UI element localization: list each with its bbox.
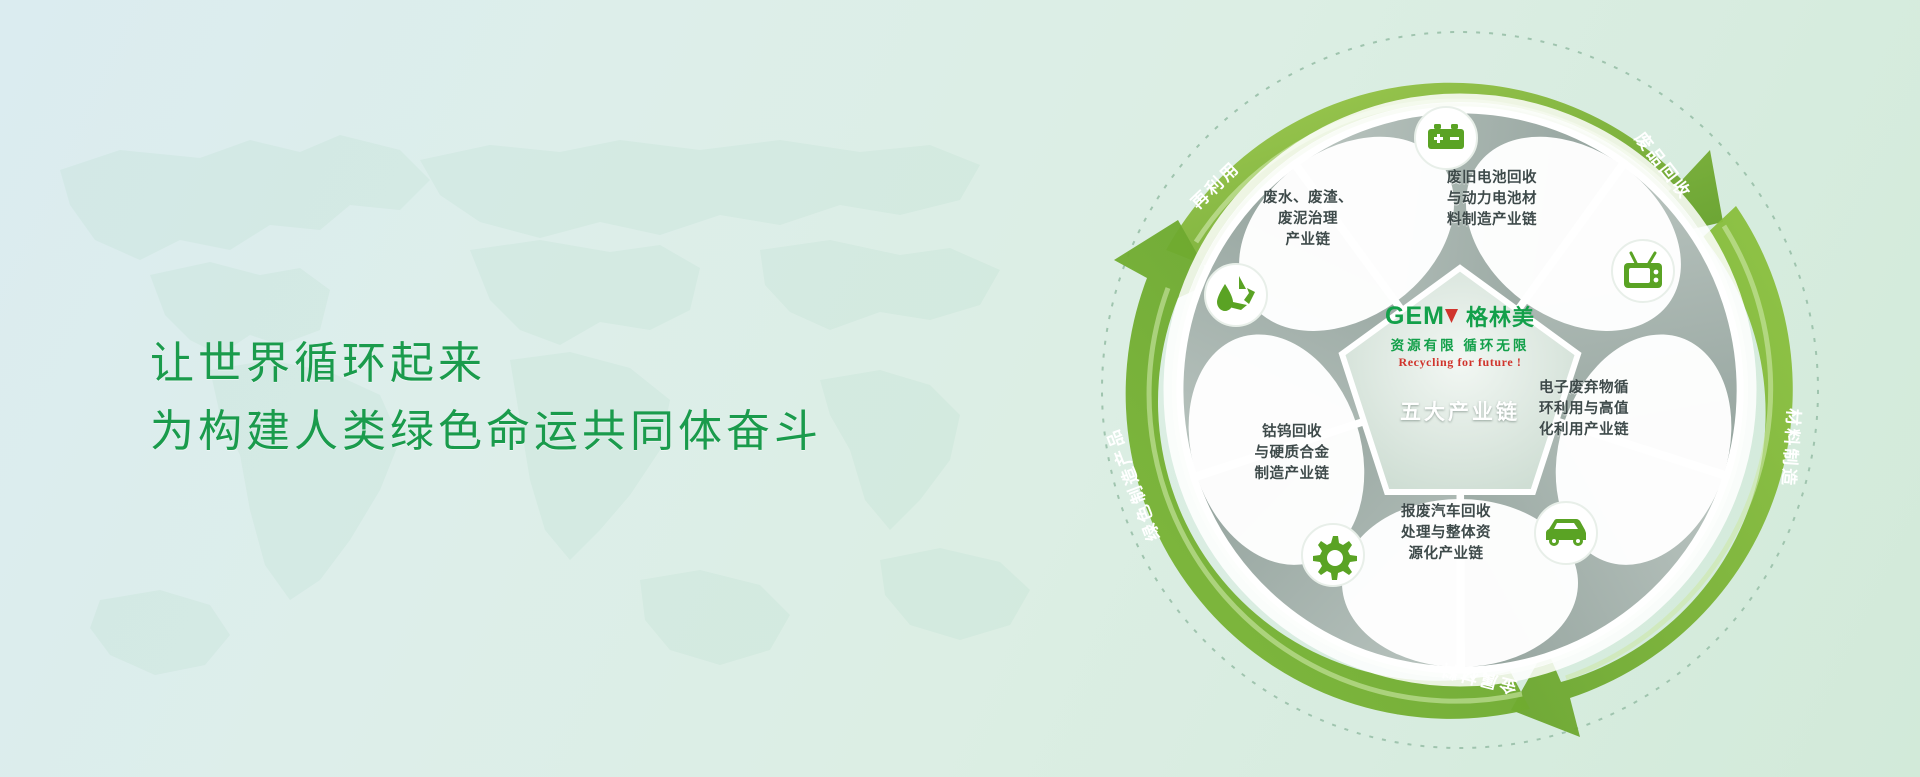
- banner-stage: 让世界循环起来 为构建人类绿色命运共同体奋斗: [0, 0, 1920, 777]
- center-brand-block: GEM 格林美 资源有限 循环无限 Recycling for future !…: [1345, 300, 1575, 426]
- red-triangle-icon: [1445, 308, 1458, 324]
- headline-line-1: 让世界循环起来: [150, 330, 822, 398]
- brand-logo-mark: GEM: [1385, 302, 1445, 331]
- brand-slogan-cn: 资源有限 循环无限: [1345, 334, 1575, 354]
- segment-label-vehicle: 报废汽车回收 处理与整体资 源化产业链: [1380, 502, 1512, 565]
- badge-car: [1533, 500, 1599, 566]
- page-title: 让世界循环起来 为构建人类绿色命运共同体奋斗: [150, 330, 822, 466]
- segment-label-wastewater: 废水、废渣、 废泥治理 产业链: [1242, 188, 1374, 251]
- center-title: 五大产业链: [1345, 396, 1575, 426]
- segment-label-cobalt-tungsten: 钴钨回收 与硬质合金 制造产业链: [1226, 422, 1358, 485]
- badge-gear: [1300, 522, 1366, 588]
- headline-line-2: 为构建人类绿色命运共同体奋斗: [150, 398, 822, 466]
- badge-battery: [1413, 105, 1479, 171]
- brand-logo-cn: 格林美: [1466, 300, 1535, 332]
- brand-slogan-en: Recycling for future !: [1345, 355, 1575, 370]
- badge-television: [1610, 238, 1676, 304]
- segment-label-battery: 废旧电池回收 与动力电池材 料制造产业链: [1426, 168, 1558, 231]
- five-industry-chain-diagram: 废品回收 材料制造 金属材料 绿色制造产品 再利用 废水、废渣、 废泥治理 产业…: [1010, 10, 1910, 770]
- badge-water-recycle: [1203, 262, 1269, 328]
- brand-logo: GEM 格林美: [1345, 300, 1575, 332]
